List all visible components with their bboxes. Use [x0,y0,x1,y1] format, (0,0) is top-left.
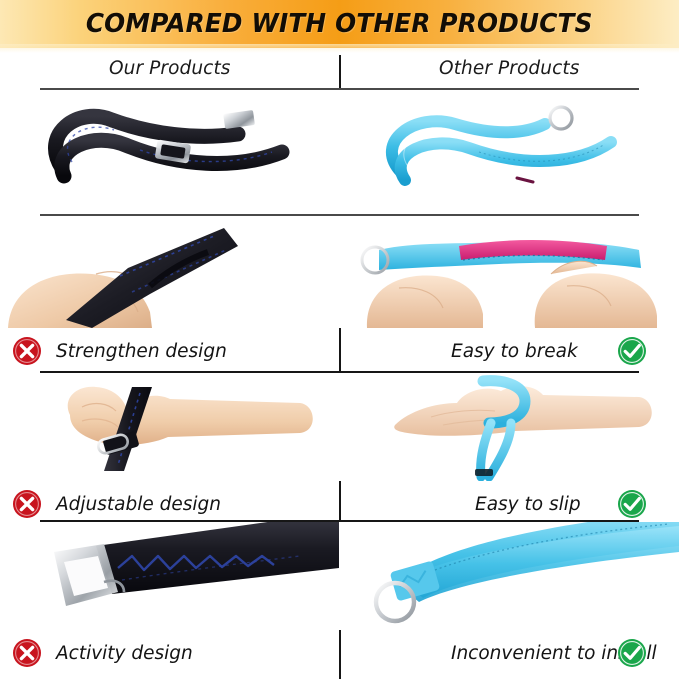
table-row [0,90,679,214]
cell-inconvenient-install-image [339,522,679,630]
product-image-cyan-strap-with-ring [339,522,679,630]
header-banner: COMPARED WITH OTHER PRODUCTS [0,0,679,48]
cell-other-product-overview [339,90,679,214]
column-header-label: Our Products [109,58,231,79]
product-image-black-strap [0,90,339,214]
hands-tearing-strap-illustration [339,216,679,328]
cross-circle-icon [12,638,42,668]
table-row [0,373,679,481]
cell-our-product-overview [0,90,339,214]
wrist-with-strap-illustration [0,373,339,481]
table-row [0,522,679,630]
product-image-wrist-wearing-black-strap [0,373,339,481]
cross-circle-icon [12,336,42,366]
caption-label: Activity design [56,643,193,664]
cyan-strap-illustration [339,90,679,214]
column-header-row: Our Products Other Products [0,48,679,89]
black-strap-illustration [0,90,339,214]
check-circle-icon [617,336,647,366]
page-title: COMPARED WITH OTHER PRODUCTS [86,9,593,39]
column-header-label: Other Products [439,58,579,79]
caption-our-product-strength: Strengthen design [0,328,395,374]
cell-easy-to-slip-image [339,373,679,481]
strap-clip-illustration [0,522,339,630]
column-header-other-products: Other Products [340,48,679,89]
check-circle-icon [617,638,647,668]
product-image-hands-tearing-cyan-strap [339,216,679,328]
product-image-hand-slipping-cyan-strap [339,373,679,481]
caption-strip-row-2: Strengthen design Easy to break [0,328,679,374]
cross-circle-icon [12,489,42,519]
hand-pulling-strap-illustration [0,216,339,328]
hand-slipping-strap-illustration [339,373,679,481]
product-image-cyan-strap [339,90,679,214]
table-row [0,216,679,328]
cell-activity-design-image [0,522,339,630]
cell-adjustable-design-image [0,373,339,481]
caption-label: Adjustable design [56,494,221,515]
caption-strip-row-4: Activity design Inconvenient to install [0,630,679,676]
caption-our-product-activity: Activity design [0,630,395,676]
product-image-black-strap-with-clip [0,522,339,630]
product-image-hand-pulling-black-strap [0,216,339,328]
caption-label: Easy to break [451,341,578,362]
caption-label: Strengthen design [56,341,227,362]
column-header-our-products: Our Products [0,48,340,89]
caption-label: Easy to slip [475,494,581,515]
cell-strengthen-design-image [0,216,339,328]
comparison-table: Our Products Other Products [0,48,679,679]
cell-easy-to-break-image [339,216,679,328]
check-circle-icon [617,489,647,519]
cyan-strap-ring-illustration [339,522,679,630]
